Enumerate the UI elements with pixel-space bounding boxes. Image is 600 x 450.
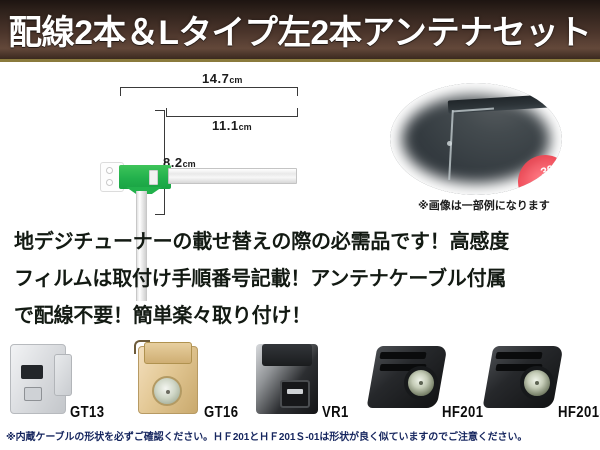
description-line-2: フィルムは取付け手順番号記載！アンテナケーブル付属 (14, 261, 586, 298)
connector-label-hf201: HF201 (442, 404, 483, 422)
connector-item-gt13: GT13 (8, 338, 128, 424)
dimension-label-top-width: 14.7cm (202, 71, 242, 86)
antenna-green-pad (119, 165, 171, 189)
sticker-month: 9 (528, 184, 540, 195)
connector-label-gt16: GT16 (204, 404, 238, 422)
connector-type-row: GT13 GT16 VR1 HF201 (0, 338, 600, 424)
antenna-mount-holes-icon (104, 165, 116, 187)
product-overview-section: 14.7cm 11.1cm 8.2cm 9 30 ※画像は一部例になります (0, 65, 600, 220)
photo-caption: ※画像は一部例になります (418, 197, 550, 213)
dimension-value-top-width: 14.7 (202, 71, 229, 86)
page-title: 配線2本＆Lタイプ左2本アンテナセット (9, 5, 592, 54)
dimension-label-arm-width: 11.1cm (212, 118, 252, 133)
header-banner: 配線2本＆Lタイプ左2本アンテナセット (0, 0, 600, 62)
antenna-horizontal-arm (168, 168, 297, 184)
footer-note-text: ※内蔵ケーブルの形状を必ずご確認ください。ＨＦ201とＨＦ201Ｓ-01は形状が… (6, 428, 600, 443)
installation-photo: 9 30 ※画像は一部例になります (300, 65, 600, 220)
description-block: 地デジチューナーの載せ替えの際の必需品です！高感度 フィルムは取付け手順番号記載… (0, 224, 600, 335)
dimension-bracket-top-width (120, 87, 298, 96)
connector-item-vr1: VR1 (256, 338, 368, 424)
description-line-1: 地デジチューナーの載せ替えの際の必需品です！高感度 (14, 224, 586, 261)
inspection-sticker: 9 30 (511, 148, 562, 195)
dimension-unit-top-width: cm (229, 75, 242, 85)
connector-label-vr1: VR1 (322, 404, 349, 422)
connector-label-gt13: GT13 (70, 404, 104, 422)
dimension-bracket-arm-width (166, 108, 298, 117)
installed-antenna-node (447, 141, 452, 146)
footer-disclaimer: ※内蔵ケーブルの形状を必ずご確認ください。ＨＦ201とＨＦ201Ｓ-01は形状が… (0, 428, 600, 443)
connector-item-hf201s-01: HF201S-01 (484, 338, 600, 424)
antenna-dimension-diagram: 14.7cm 11.1cm 8.2cm (0, 65, 300, 220)
connector-item-gt16: GT16 (128, 338, 256, 424)
sticker-day: 30 (539, 162, 556, 179)
description-line-3: で配線不要！簡単楽々取り付け！ (14, 298, 586, 335)
photo-oval-vignette: 9 30 (390, 83, 562, 195)
connector-label-hf201s-01: HF201S-01 (558, 404, 600, 422)
connector-item-hf201: HF201 (368, 338, 484, 424)
dimension-unit-arm-width: cm (239, 122, 252, 132)
dimension-value-arm-width: 11.1 (212, 118, 239, 133)
